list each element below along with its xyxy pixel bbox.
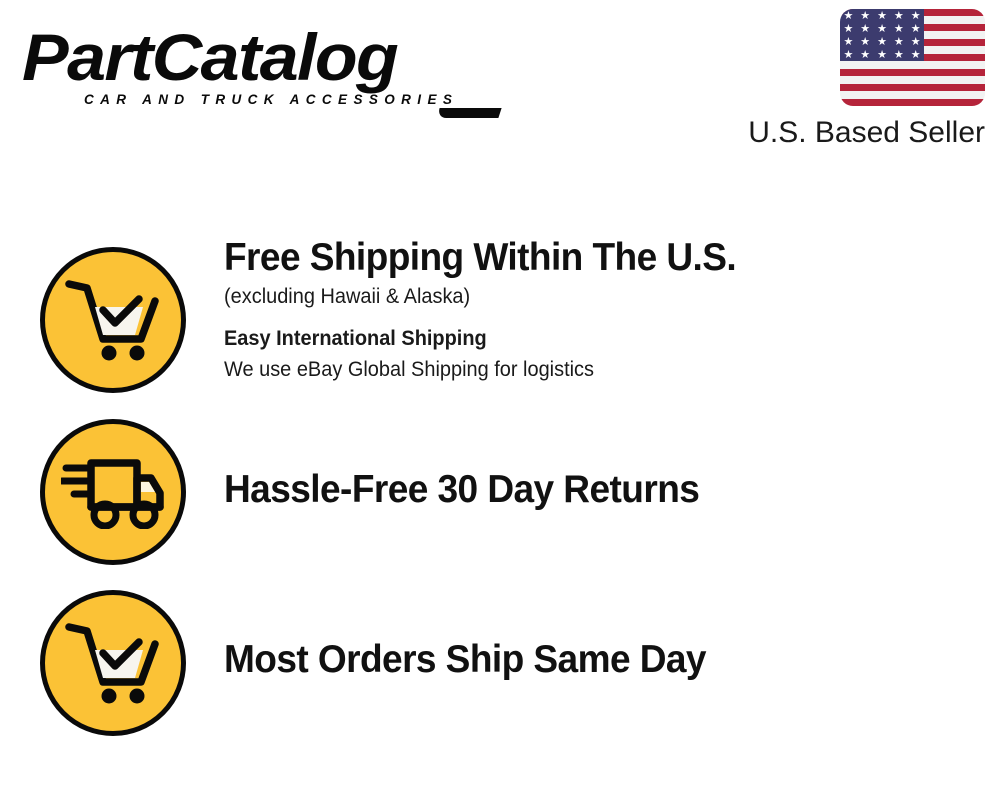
- us-based-seller-label: U.S. Based Seller: [748, 116, 985, 150]
- flag-star: ★: [843, 36, 854, 47]
- flag-stripe: [840, 69, 985, 76]
- flag-star: ★: [860, 36, 871, 47]
- flag-star: ★: [910, 49, 921, 60]
- flag-star: ★: [877, 36, 888, 47]
- feature-text-block: Most Orders Ship Same Day: [224, 637, 964, 683]
- flag-star: ★: [860, 49, 871, 60]
- flag-stripe: [840, 84, 985, 91]
- flag-star: ★: [877, 49, 888, 60]
- flag-star: ★: [877, 23, 888, 34]
- feature-text-block: Hassle-Free 30 Day Returns: [224, 467, 964, 513]
- feature-title: Free Shipping Within The U.S.: [224, 235, 927, 281]
- feature-text-block: Free Shipping Within The U.S. (excluding…: [224, 235, 964, 385]
- shopping-cart-check-icon: [40, 590, 186, 736]
- flag-star: ★: [893, 10, 904, 21]
- shopping-cart-check-icon: [40, 247, 186, 393]
- us-flag-icon: ★★★★★★★★★★★★★★★★★★★★: [840, 9, 985, 106]
- flag-star: ★: [893, 36, 904, 47]
- us-flag-graphic: ★★★★★★★★★★★★★★★★★★★★: [840, 9, 985, 106]
- flag-star: ★: [910, 10, 921, 21]
- flag-star: ★: [843, 23, 854, 34]
- flag-stripe: [840, 99, 985, 106]
- flag-stripe: [840, 91, 985, 98]
- logo-swoosh-accent: [436, 108, 501, 118]
- delivery-truck-icon: [40, 419, 186, 565]
- feature-row-returns: Hassle-Free 30 Day Returns: [40, 402, 970, 574]
- brand-logo: PartCatalog CAR AND TRUCK ACCESSORIES: [22, 22, 492, 118]
- flag-star: ★: [910, 23, 921, 34]
- feature-exclusion-note: (excluding Hawaii & Alaska): [224, 282, 927, 312]
- feature-row-same-day: Most Orders Ship Same Day: [40, 573, 970, 745]
- feature-logistics-note: We use eBay Global Shipping for logistic…: [224, 355, 927, 385]
- flag-star: ★: [860, 23, 871, 34]
- flag-stripe: [840, 76, 985, 83]
- feature-title: Most Orders Ship Same Day: [224, 637, 927, 683]
- flag-stripe: [840, 61, 985, 68]
- feature-subheading-international: Easy International Shipping: [224, 324, 927, 354]
- flag-star: ★: [893, 23, 904, 34]
- promo-banner: PartCatalog CAR AND TRUCK ACCESSORIES ★★…: [0, 0, 1000, 800]
- flag-star: ★: [910, 36, 921, 47]
- flag-star: ★: [843, 49, 854, 60]
- flag-star: ★: [860, 10, 871, 21]
- feature-title: Hassle-Free 30 Day Returns: [224, 467, 927, 513]
- flag-star: ★: [877, 10, 888, 21]
- flag-star: ★: [843, 10, 854, 21]
- flag-star: ★: [893, 49, 904, 60]
- banner-header: PartCatalog CAR AND TRUCK ACCESSORIES ★★…: [0, 0, 1000, 170]
- flag-canton: ★★★★★★★★★★★★★★★★★★★★: [840, 9, 924, 61]
- brand-wordmark: PartCatalog: [22, 22, 520, 92]
- feature-row-free-shipping: Free Shipping Within The U.S. (excluding…: [40, 230, 970, 402]
- brand-tagline: CAR AND TRUCK ACCESSORIES: [84, 92, 458, 107]
